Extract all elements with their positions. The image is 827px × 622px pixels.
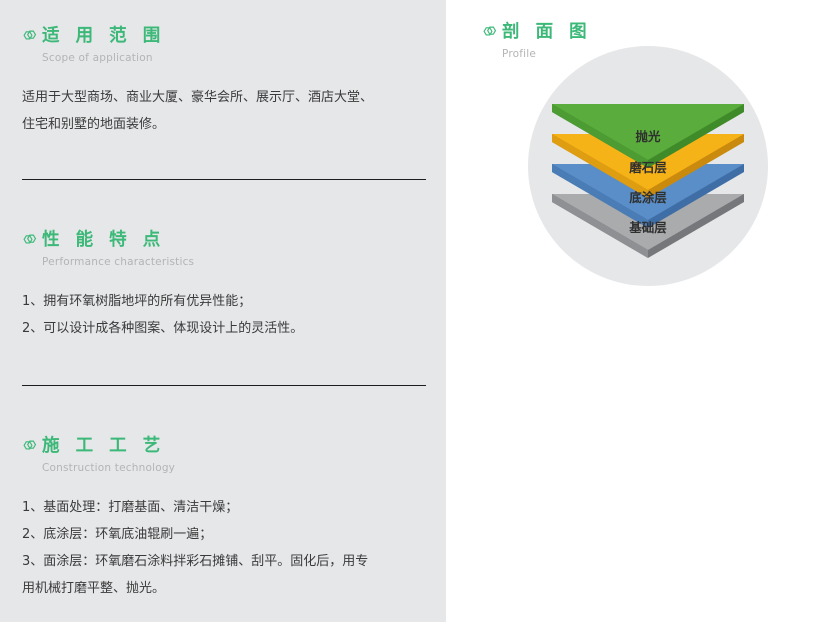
section-title: 施 工 工 艺 bbox=[42, 436, 165, 456]
section-header: 施 工 工 艺 Construction technology bbox=[0, 436, 446, 474]
divider-1 bbox=[22, 179, 426, 180]
section-body: 适用于大型商场、商业大厦、豪华会所、展示厅、酒店大堂、 住宅和别墅的地面装修。 bbox=[0, 84, 446, 138]
right-content-column: 剖 面 图 Profile bbox=[446, 0, 827, 622]
section-header: 性 能 特 点 Performance characteristics bbox=[0, 230, 446, 268]
body-line: 用机械打磨平整、抛光。 bbox=[22, 575, 420, 602]
section-performance-characteristics: 性 能 特 点 Performance characteristics 1、拥有… bbox=[0, 230, 446, 342]
body-line: 2、可以设计成各种图案、体现设计上的灵活性。 bbox=[22, 315, 420, 342]
profile-title: 剖 面 图 bbox=[502, 22, 592, 42]
section-scope-of-application: 适 用 范 围 Scope of application 适用于大型商场、商业大… bbox=[0, 26, 446, 138]
section-title: 适 用 范 围 bbox=[42, 26, 165, 46]
layer-label-terrazzo: 磨石层 bbox=[528, 157, 768, 176]
layer-label-polish: 抛光 bbox=[528, 126, 768, 145]
body-line: 1、拥有环氧树脂地坪的所有优异性能； bbox=[22, 288, 420, 315]
section-construction-technology: 施 工 工 艺 Construction technology 1、基面处理：打… bbox=[0, 436, 446, 602]
section-header: 适 用 范 围 Scope of application bbox=[0, 26, 446, 64]
section-subtitle: Performance characteristics bbox=[42, 256, 446, 268]
divider-2 bbox=[22, 385, 426, 386]
layer-label-base: 基础层 bbox=[528, 217, 768, 236]
section-body: 1、基面处理：打磨基面、清洁干燥； 2、底涂层：环氧底油辊刷一遍； 3、面涂层：… bbox=[0, 494, 446, 602]
section-subtitle: Construction technology bbox=[42, 462, 446, 474]
left-content-panel: 适 用 范 围 Scope of application 适用于大型商场、商业大… bbox=[0, 0, 446, 622]
body-line: 1、基面处理：打磨基面、清洁干燥； bbox=[22, 494, 420, 521]
double-hexagon-icon bbox=[482, 25, 499, 42]
section-body: 1、拥有环氧树脂地坪的所有优异性能； 2、可以设计成各种图案、体现设计上的灵活性… bbox=[0, 288, 446, 342]
body-line: 3、面涂层：环氧磨石涂料拌彩石摊铺、刮平。固化后，用专 bbox=[22, 548, 420, 575]
section-subtitle: Scope of application bbox=[42, 52, 446, 64]
double-hexagon-icon bbox=[22, 439, 39, 456]
double-hexagon-icon bbox=[22, 233, 39, 250]
body-line: 2、底涂层：环氧底油辊刷一遍； bbox=[22, 521, 420, 548]
body-line: 住宅和别墅的地面装修。 bbox=[22, 111, 420, 138]
layer-label-primer: 底涂层 bbox=[528, 187, 768, 206]
double-hexagon-icon bbox=[22, 29, 39, 46]
section-title: 性 能 特 点 bbox=[42, 230, 165, 250]
body-line: 适用于大型商场、商业大厦、豪华会所、展示厅、酒店大堂、 bbox=[22, 84, 420, 111]
profile-layer-diagram: 抛光 磨石层 底涂层 基础层 bbox=[528, 46, 768, 286]
